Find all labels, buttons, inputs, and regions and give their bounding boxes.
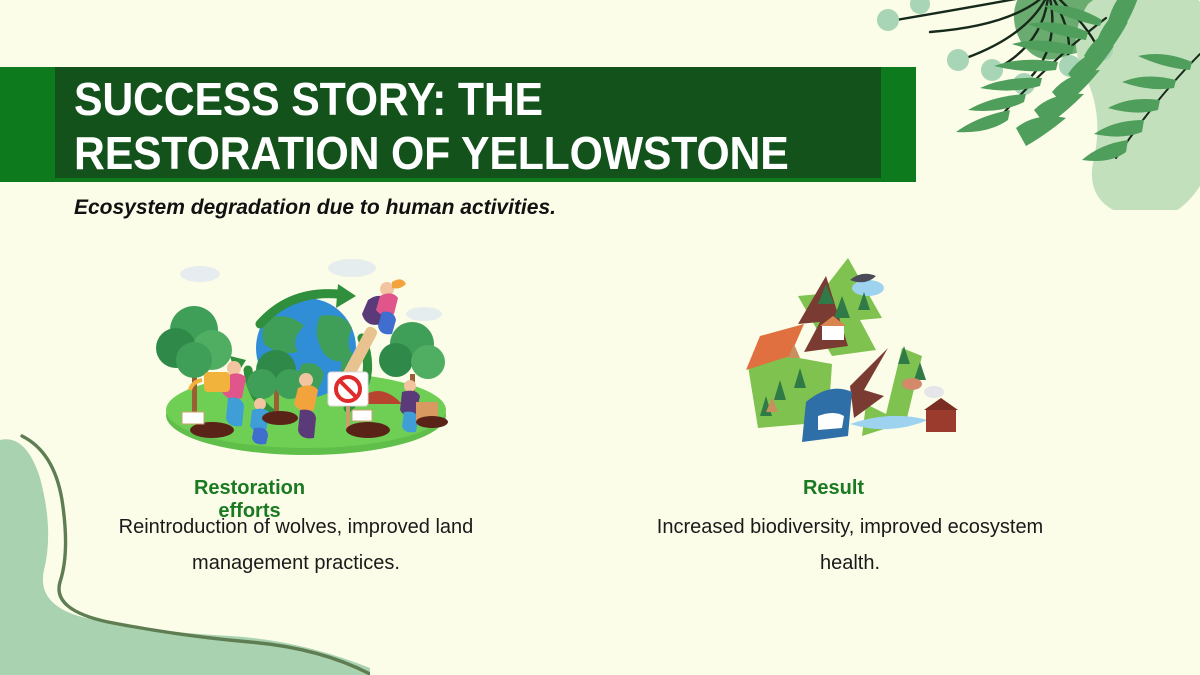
- column-result: [640, 252, 1060, 462]
- recycle-landscape-illustration: [730, 252, 970, 457]
- page-subtitle: Ecosystem degradation due to human activ…: [74, 196, 874, 220]
- page-title: SUCCESS STORY: THE RESTORATION OF YELLOW…: [74, 72, 855, 181]
- fern-frond-icon: [1082, 54, 1200, 161]
- foliage-corner-decoration: [870, 0, 1200, 210]
- earth-reforestation-illustration: [156, 252, 456, 457]
- fern-frond-icon: [956, 0, 1142, 146]
- heading-result: Result: [800, 477, 867, 500]
- recycle-arrow-right: [850, 346, 958, 436]
- slide-canvas: SUCCESS STORY: THE RESTORATION OF YELLOW…: [0, 0, 1200, 675]
- column-restoration: [56, 252, 556, 462]
- body-result: Increased biodiversity, improved ecosyst…: [640, 510, 1060, 581]
- recycle-arrow-top: [798, 258, 884, 356]
- body-restoration-efforts: Reintroduction of wolves, improved land …: [106, 510, 486, 581]
- illustration-container: [56, 252, 556, 462]
- illustration-container: [640, 252, 1060, 462]
